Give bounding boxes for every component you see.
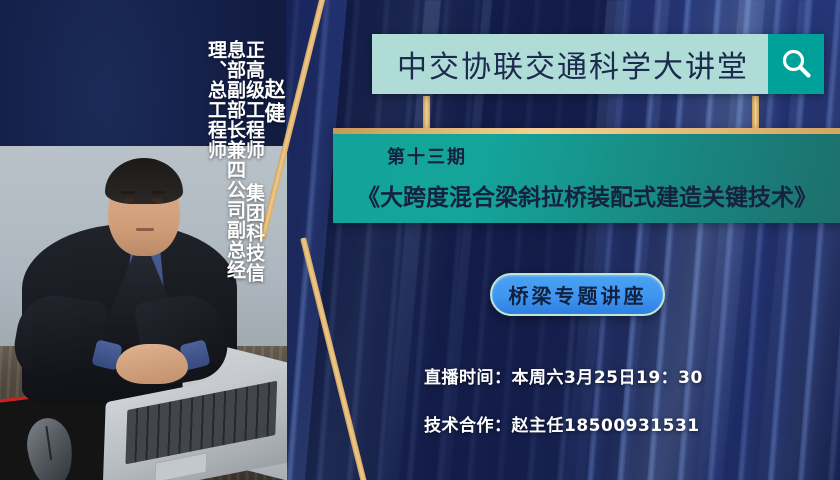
photo-clasped-hands — [116, 344, 188, 384]
contact-text: 技术合作：赵主任18500931531 — [424, 411, 703, 436]
info-block: 直播时间：本周六3月25日19：30 技术合作：赵主任18500931531 — [424, 363, 703, 459]
banner-title: 中交协联交通科学大讲堂 — [372, 34, 768, 94]
gold-connector-right — [752, 96, 759, 132]
lecture-topic: 《大跨度混合梁斜拉桥装配式建造关键技术》 — [357, 178, 830, 212]
photo-laptop-keyboard — [125, 381, 277, 465]
issue-number: 第十三期 — [387, 143, 830, 169]
search-icon-container[interactable] — [768, 34, 824, 94]
subtitle-band: 第十三期 《大跨度混合梁斜拉桥装配式建造关键技术》 — [333, 128, 840, 223]
speaker-credentials: 正高级工程师 集团科技信息部副部长兼四公司副总经理、总工程师 — [206, 40, 263, 296]
live-time-text: 直播时间：本周六3月25日19：30 — [424, 363, 703, 388]
topic-category-button[interactable]: 桥梁专题讲座 — [490, 273, 665, 316]
speaker-text-block: 赵健 正高级工程师 集团科技信息部副部长兼四公司副总经理、总工程师 — [0, 16, 300, 296]
speaker-name: 赵健 — [263, 78, 284, 126]
title-banner: 中交协联交通科学大讲堂 — [372, 34, 824, 94]
livestream-poster: 赵健 正高级工程师 集团科技信息部副部长兼四公司副总经理、总工程师 中交协联交通… — [0, 0, 840, 480]
gold-connector-left — [423, 96, 430, 132]
search-icon — [779, 47, 813, 81]
